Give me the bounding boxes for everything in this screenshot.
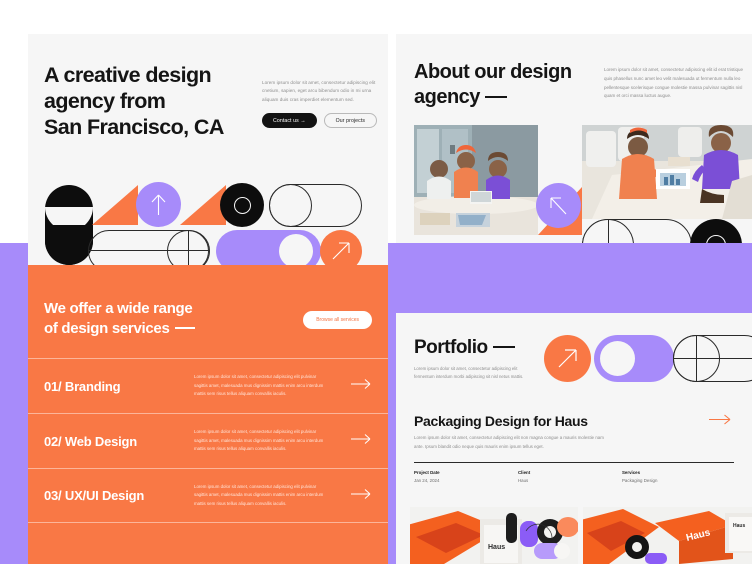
services-title-line-1: We offer a wide range [44, 299, 195, 319]
hero-shape-composition [28, 179, 388, 265]
purple-backdrop-gutter [388, 243, 396, 564]
svg-text:Haus: Haus [488, 544, 505, 551]
meta-value: Jan 24, 2024 [414, 478, 518, 483]
outlined-circle-shape-1 [269, 184, 312, 227]
toggle-knob-shape [279, 234, 313, 265]
service-name: 02/ Web Design [44, 434, 194, 449]
project-meta-date: Project Date Jan 24, 2024 [414, 470, 518, 483]
hero-paragraph: Lorem ipsum dolor sit amet, consectetur … [262, 79, 388, 104]
services-title-line-2: of design services [44, 320, 170, 337]
service-row-branding[interactable]: 01/ Branding Lorem ipsum dolor sit amet,… [28, 358, 388, 413]
portfolio-pill-horizontal-line [673, 358, 752, 359]
service-arrow-icon[interactable] [350, 377, 372, 395]
black-pill-bottom-shape [45, 225, 93, 265]
hero-side-block: Lorem ipsum dolor sit amet, consectetur … [262, 62, 388, 141]
packaging-box-photo-2: Haus Haus [583, 507, 752, 564]
services-card: We offer a wide range of design services… [28, 265, 388, 564]
arrow-up-icon [136, 182, 181, 227]
project-meta-table: Project Date Jan 24, 2024 Client Haus Se… [414, 462, 734, 483]
service-arrow-icon[interactable] [350, 487, 372, 505]
about-side-block: Lorem ipsum dolor sit amet, consectetur … [604, 60, 744, 110]
about-heading-block: About our design agency [414, 60, 604, 110]
arrow-right-icon [350, 378, 372, 390]
services-title: We offer a wide range of design services [44, 299, 195, 338]
browse-all-services-button[interactable]: Browse all services [303, 311, 372, 329]
portfolio-card: Portfolio Lorem ipsum dolor sit amet, co… [396, 313, 752, 564]
services-list: 01/ Branding Lorem ipsum dolor sit amet,… [28, 358, 388, 523]
service-arrow-icon[interactable] [350, 432, 372, 450]
portfolio-paragraph: Lorem ipsum dolor sit amet, consectetur … [414, 365, 538, 382]
hero-title-line-3: San Francisco, CA [44, 114, 262, 140]
project-gallery-image-1[interactable]: Haus [410, 507, 578, 564]
design-showcase-canvas: A creative design agency from San Franci… [0, 0, 752, 564]
portfolio-pill-knob [600, 341, 635, 376]
about-title-line-2-wrap: agency [414, 85, 604, 110]
office-meeting-photo [414, 125, 538, 235]
svg-text:Haus: Haus [733, 523, 745, 529]
hero-title-line-2: agency from [44, 88, 262, 114]
project-gallery: Haus [396, 507, 752, 564]
packaging-box-photo-1: Haus [410, 507, 578, 564]
arrow-up-left-icon [536, 183, 581, 228]
service-description: Lorem ipsum dolor sit amet, consectetur … [194, 373, 324, 399]
about-title: About our design agency [414, 60, 604, 110]
meta-value: Haus [518, 478, 622, 483]
purple-circle-shape [136, 182, 181, 227]
arrow-right-icon [350, 433, 372, 445]
about-photo-left [414, 125, 538, 235]
hero-card: A creative design agency from San Franci… [28, 34, 388, 265]
services-title-line-2-wrap: of design services [44, 319, 195, 339]
project-meta-services: Services Packaging Design [622, 470, 726, 483]
orange-circle-shape [320, 230, 362, 265]
about-media-block [396, 125, 752, 243]
contact-us-button[interactable]: Contact us → [262, 113, 317, 128]
services-title-dash-accent [175, 327, 195, 329]
arrow-up-right-icon [320, 230, 362, 265]
white-ring-shape [234, 197, 251, 214]
project-title: Packaging Design for Haus [414, 413, 734, 429]
meta-key: Project Date [414, 470, 518, 475]
service-name: 01/ Branding [44, 379, 194, 394]
title-dash-accent [485, 96, 507, 98]
meta-key: Services [622, 470, 726, 475]
about-card: About our design agency Lorem ipsum dolo… [396, 34, 752, 243]
portfolio-title-wrap: Portfolio [414, 337, 556, 359]
meta-value: Packaging Design [622, 478, 726, 483]
project-description: Lorem ipsum dolor sit amet, consectetur … [414, 434, 604, 452]
about-title-line-1: About our design [414, 60, 604, 85]
portfolio-orange-circle [544, 335, 591, 382]
hero-heading-block: A creative design agency from San Franci… [44, 62, 262, 141]
arrow-right-icon [350, 488, 372, 500]
arrow-up-right-icon [544, 335, 591, 382]
portfolio-heading-block: Portfolio Lorem ipsum dolor sit amet, co… [396, 313, 556, 382]
service-description: Lorem ipsum dolor sit amet, consectetur … [194, 428, 324, 454]
services-header: We offer a wide range of design services… [28, 265, 388, 338]
about-photo-right [582, 125, 752, 219]
project-arrow-icon[interactable] [708, 413, 732, 431]
portfolio-header: Portfolio Lorem ipsum dolor sit amet, co… [396, 313, 752, 399]
hero-button-group: Contact us → Our projects [262, 113, 388, 128]
meta-key: Client [518, 470, 622, 475]
orange-triangle-shape-1 [92, 185, 138, 225]
portfolio-project-block: Packaging Design for Haus Lorem ipsum do… [396, 399, 752, 483]
portfolio-circle-vertical-line [696, 335, 697, 382]
project-meta-client: Client Haus [518, 470, 622, 483]
hero-title: A creative design agency from San Franci… [44, 62, 262, 141]
arrow-right-icon [708, 413, 732, 426]
our-projects-button[interactable]: Our projects [324, 113, 377, 128]
circle-vertical-line [188, 230, 189, 265]
service-row-ux-ui-design[interactable]: 03/ UX/UI Design Lorem ipsum dolor sit a… [28, 468, 388, 523]
about-purple-circle [536, 183, 581, 228]
about-title-line-2: agency [414, 86, 480, 108]
portfolio-title-dash-accent [493, 346, 515, 348]
project-gallery-image-2[interactable]: Haus Haus [583, 507, 752, 564]
service-name: 03/ UX/UI Design [44, 488, 194, 503]
hero-title-line-1: A creative design [44, 62, 262, 88]
service-row-web-design[interactable]: 02/ Web Design Lorem ipsum dolor sit ame… [28, 413, 388, 468]
about-paragraph: Lorem ipsum dolor sit amet, consectetur … [604, 66, 744, 101]
conference-table-photo [582, 125, 752, 219]
about-circle-vertical-line [608, 219, 609, 243]
service-description: Lorem ipsum dolor sit amet, consectetur … [194, 483, 324, 509]
portfolio-title: Portfolio [414, 337, 488, 358]
